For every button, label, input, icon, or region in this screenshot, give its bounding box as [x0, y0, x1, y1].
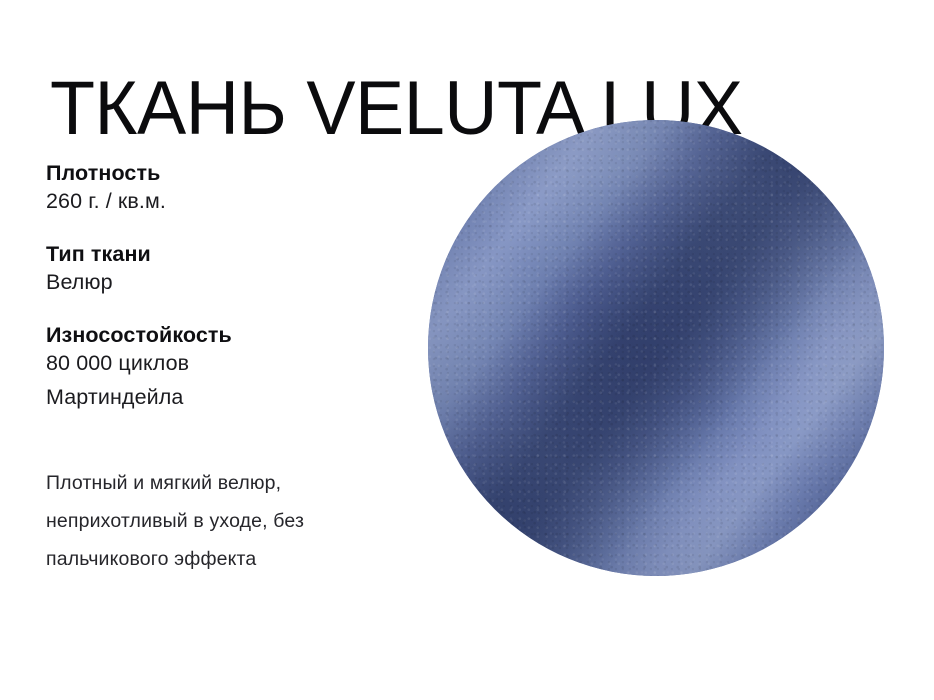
spec-value-abrasion-resistance-unit: Мартиндейла [46, 377, 416, 417]
spec-label-density: Плотность [46, 160, 416, 187]
fabric-spec-card: ТКАНЬ VELUTA LUX Плотность 260 г. / кв.м… [0, 0, 934, 700]
fabric-vignette-layer [428, 120, 884, 576]
spec-item-density: Плотность 260 г. / кв.м. [46, 160, 416, 215]
fabric-description: Плотный и мягкий велюр, неприхотливый в … [46, 464, 418, 578]
spec-value-density: 260 г. / кв.м. [46, 187, 416, 215]
spec-label-abrasion-resistance: Износостойкость [46, 322, 416, 349]
spec-list: Плотность 260 г. / кв.м. Тип ткани Велюр… [46, 160, 416, 443]
spec-item-abrasion-resistance: Износостойкость 80 000 циклов Мартиндейл… [46, 322, 416, 417]
spec-label-fabric-type: Тип ткани [46, 241, 416, 268]
spec-value-abrasion-resistance: 80 000 циклов [46, 349, 416, 377]
fabric-swatch-image [428, 120, 884, 576]
spec-value-fabric-type: Велюр [46, 268, 416, 296]
spec-item-fabric-type: Тип ткани Велюр [46, 241, 416, 296]
